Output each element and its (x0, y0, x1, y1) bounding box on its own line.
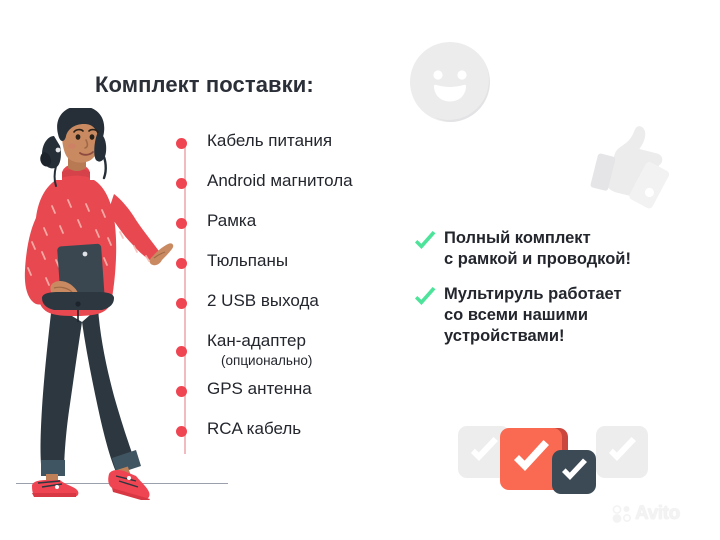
avito-watermark: Avito (612, 503, 680, 525)
bullet-dot-icon (176, 218, 187, 229)
list-item-label: GPS антенна (207, 379, 312, 398)
list-item: Рамка (176, 212, 406, 252)
list-item: Кан-адаптер (опционально) (176, 332, 406, 380)
promo-image: Комплект поставки: Кабель питания Androi… (0, 0, 720, 540)
bullet-dot-icon (176, 178, 187, 189)
benefits-list: Полный комплект с рамкой и проводкой! Му… (412, 228, 702, 362)
avito-logo-icon (612, 504, 632, 524)
bullet-dot-icon (176, 386, 187, 397)
list-item: GPS антенна (176, 380, 406, 420)
list-item-label: Кабель питания (207, 131, 332, 150)
bullet-dot-icon (176, 138, 187, 149)
smiley-face-icon (408, 40, 492, 124)
checkbox-cards-decoration (458, 410, 648, 496)
list-item-label: 2 USB выхода (207, 291, 319, 310)
bullet-dot-icon (176, 298, 187, 309)
benefit-text: Мультируль работает со всеми нашими устр… (444, 284, 622, 347)
checkbox-card-dark (552, 450, 596, 494)
avito-watermark-text: Avito (635, 503, 680, 525)
bullet-dot-icon (176, 426, 187, 437)
package-contents-list: Кабель питания Android магнитола Рамка Т… (176, 132, 406, 460)
list-item-label: Тюльпаны (207, 251, 288, 270)
list-item: 2 USB выхода (176, 292, 406, 332)
bullet-dot-icon (176, 258, 187, 269)
checkbox-card-gray-right (596, 426, 648, 478)
page-title: Комплект поставки: (95, 72, 314, 98)
list-item: RCA кабель (176, 420, 406, 460)
list-item-sublabel: (опционально) (221, 354, 312, 368)
check-mark-icon (412, 285, 438, 311)
check-mark-icon (412, 229, 438, 255)
benefit-item: Полный комплект с рамкой и проводкой! (412, 228, 702, 270)
list-item-label: Рамка (207, 211, 256, 230)
list-item: Кабель питания (176, 132, 406, 172)
list-item-label: Кан-адаптер (207, 331, 306, 350)
list-item-label: RCA кабель (207, 419, 301, 438)
woman-illustration (8, 108, 178, 500)
bullet-dot-icon (176, 346, 187, 357)
thumbs-up-icon (578, 115, 682, 219)
list-item: Android магнитола (176, 172, 406, 212)
benefit-text: Полный комплект с рамкой и проводкой! (444, 228, 631, 270)
list-item: Тюльпаны (176, 252, 406, 292)
list-item-label: Android магнитола (207, 171, 353, 190)
benefit-item: Мультируль работает со всеми нашими устр… (412, 284, 702, 347)
